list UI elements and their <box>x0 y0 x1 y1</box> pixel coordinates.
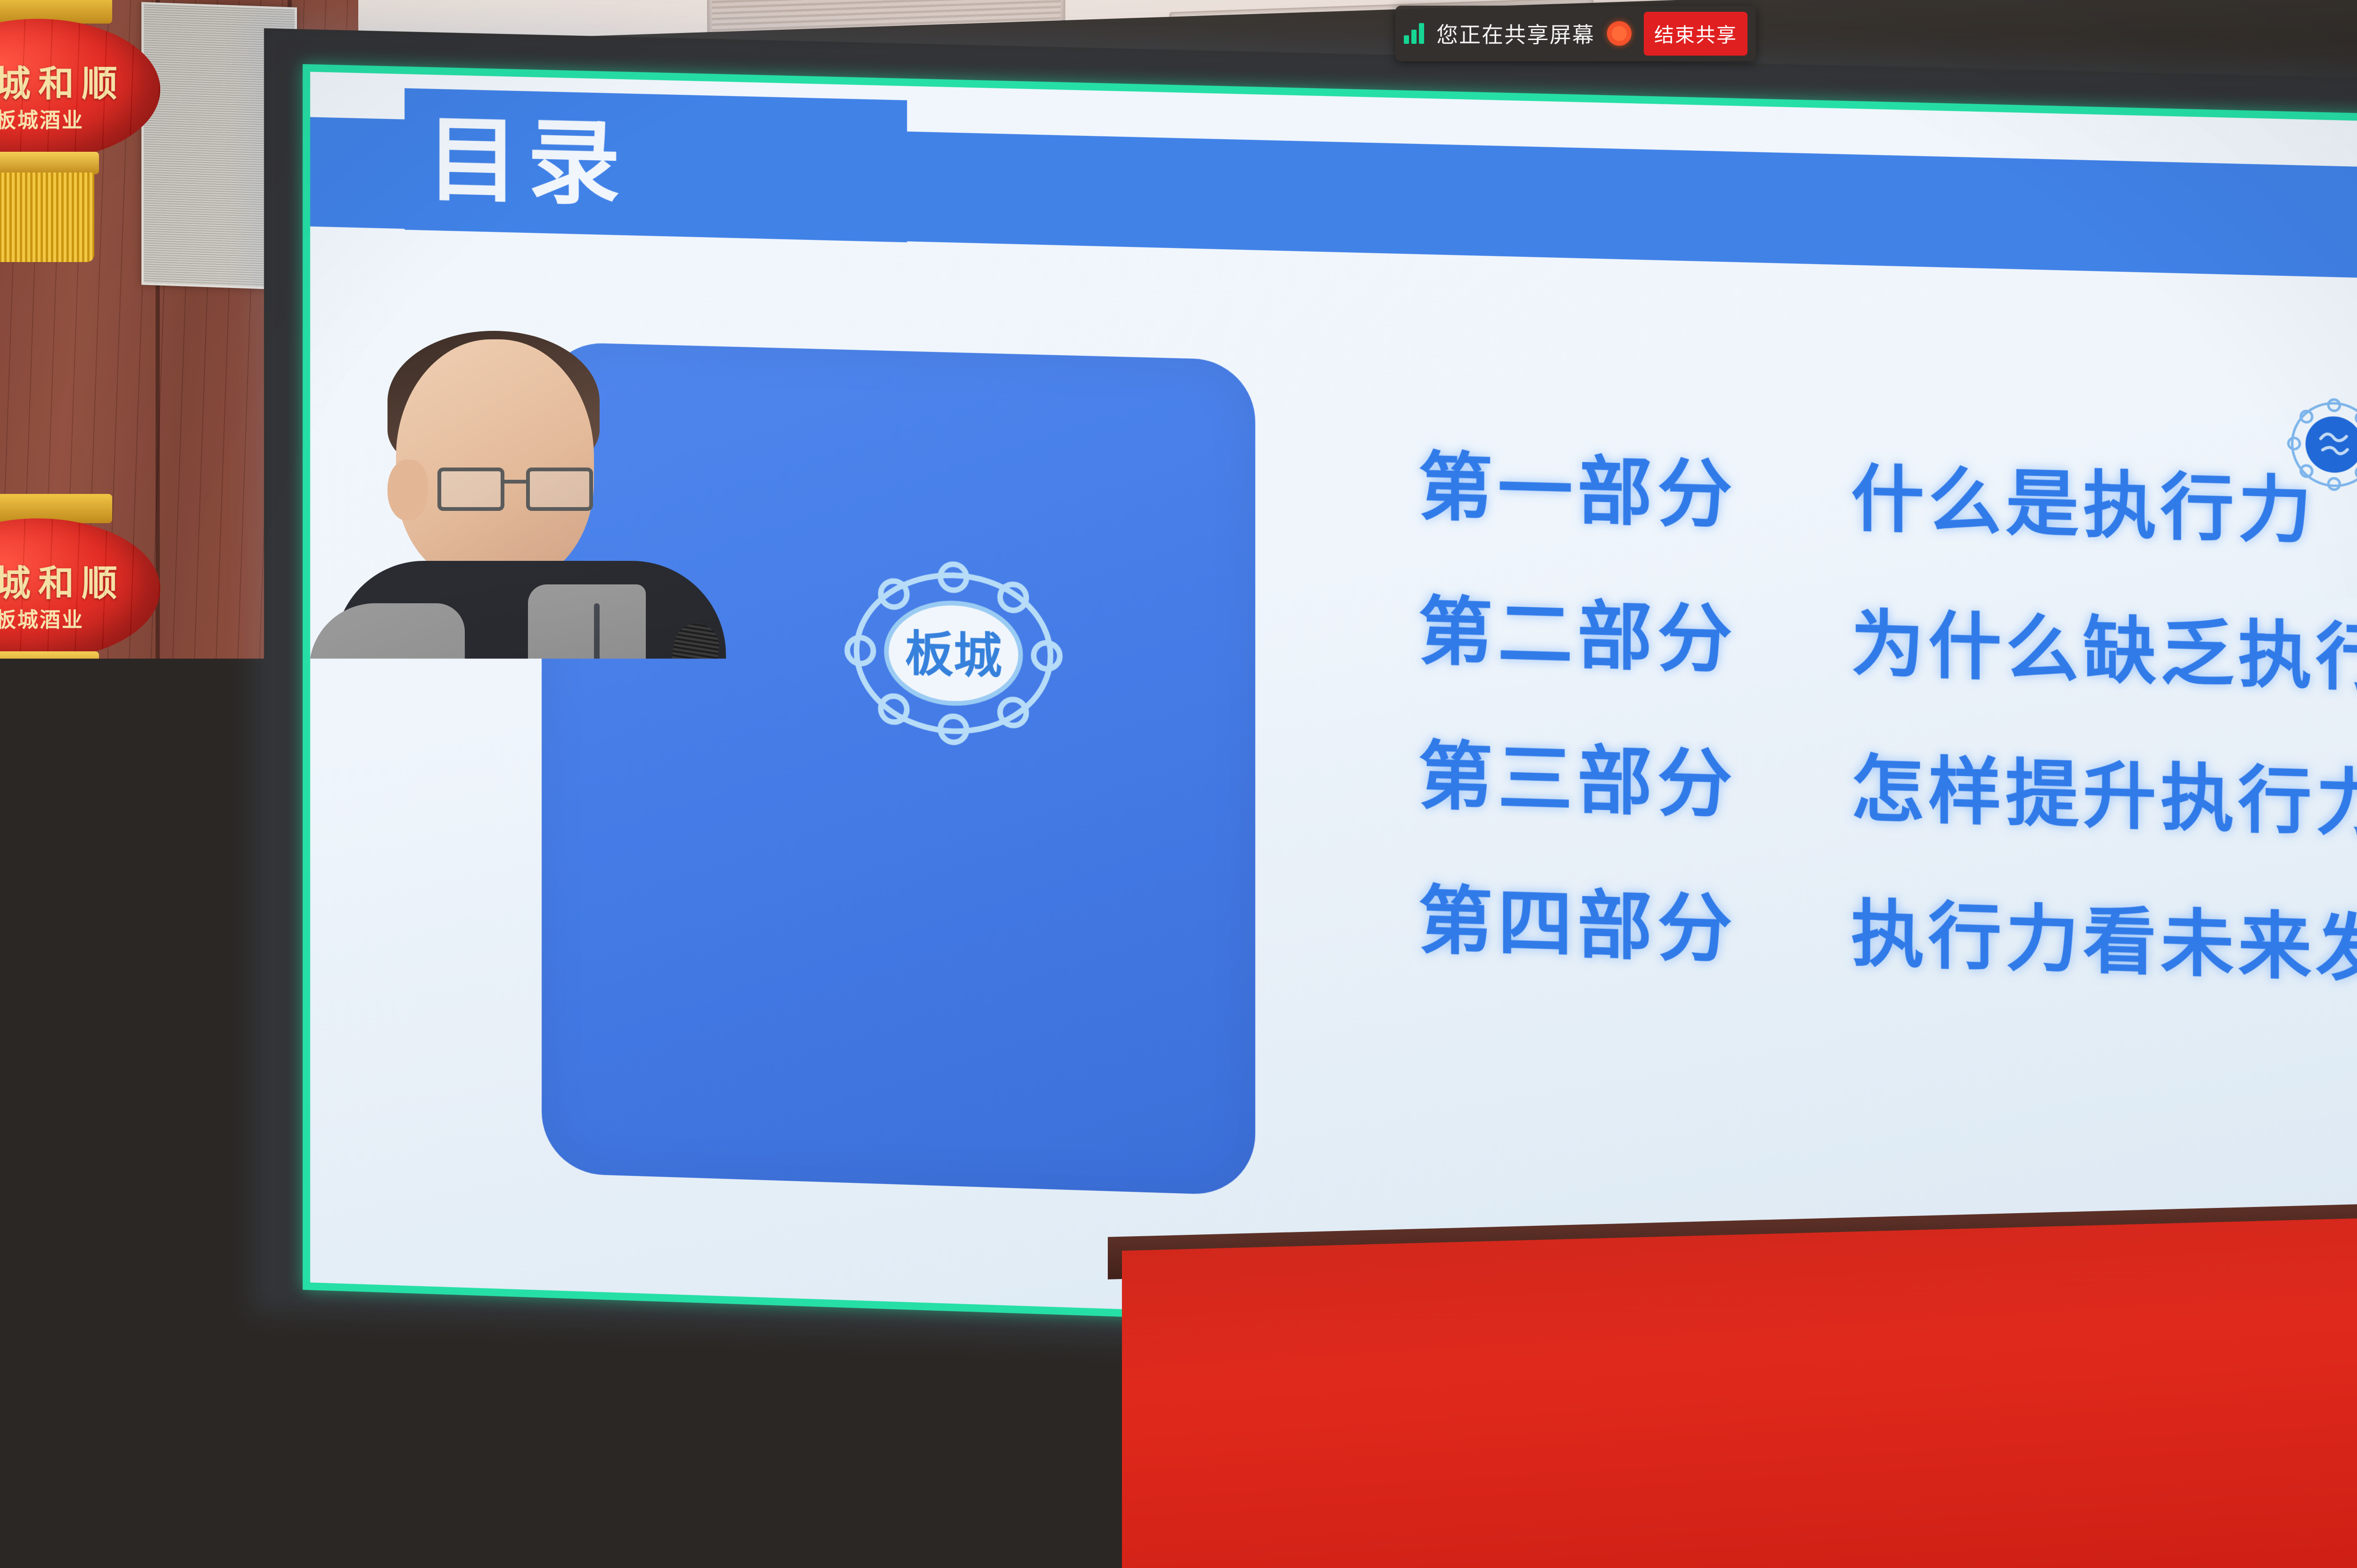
toc-part-label: 第二部分 <box>1418 571 1851 690</box>
toc-item-text: 为什么缺乏执行力 <box>1851 585 2357 707</box>
podium: 板城 板城酒业 BANCHENG LIQUOR <box>236 924 1131 1568</box>
lantern-brand-text: 板城酒业 <box>0 103 84 133</box>
speaker-sweater-chest <box>528 584 646 782</box>
toc-row: 第四部分 执行力看未来发展 <box>1418 860 2357 1004</box>
podium-brand-cn: 板城酒业 <box>530 992 816 1044</box>
toc-item-text: 怎样提升执行力 <box>1851 730 2357 851</box>
slide-title: 目录 <box>426 113 629 211</box>
bancheng-seal-icon: 板城 <box>424 980 514 1079</box>
screenshot-stage: 目录 <box>0 0 2357 1568</box>
toc-part-label: 第三部分 <box>1418 715 1851 836</box>
toc-row: 第一部分 什么是执行力 <box>1418 426 2357 567</box>
toc-part-label: 第一部分 <box>1418 426 1851 545</box>
speaker-ear <box>387 460 428 521</box>
lantern-title: 板城和顺 <box>0 554 149 606</box>
lantern-brand-text: 板城酒业 <box>0 603 84 633</box>
lantern-brand: 板城酒业 <box>0 1031 84 1062</box>
toc-item-text: 执行力看未来发展 <box>1851 875 2357 998</box>
lantern-title: 板城和顺 <box>0 55 149 107</box>
record-dot-icon[interactable] <box>1607 21 1632 46</box>
podium-brand-en: BANCHENG LIQUOR <box>530 1047 816 1068</box>
lantern-brand: 板城酒业 <box>0 103 84 134</box>
toc-row: 第三部分 怎样提升执行力 <box>1418 715 2357 859</box>
lantern-brand: 板城酒业 <box>0 602 84 633</box>
lantern-title: 板城和顺 <box>0 983 149 1035</box>
podium-wordmark: 板城酒业 BANCHENG LIQUOR <box>530 992 816 1068</box>
podium-body <box>354 1122 1014 1568</box>
toc-part-label: 第四部分 <box>1418 860 1851 980</box>
signal-bars-icon <box>1404 23 1424 44</box>
screen-share-toolbar[interactable]: 您正在共享屏幕 结束共享 <box>1395 6 1756 61</box>
speaker-head <box>396 339 594 584</box>
vest-zipper <box>594 603 600 895</box>
podium-side-edge <box>990 1112 1051 1568</box>
hp-laptop: hp <box>698 740 1056 943</box>
red-carpet <box>1122 1210 2357 1568</box>
toc-row: 第二部分 为什么缺乏执行力 <box>1418 571 2357 713</box>
podium-brand-logo: 板城 板城酒业 BANCHENG LIQUOR <box>424 980 816 1079</box>
svg-text:板城: 板城 <box>447 1018 490 1043</box>
panel-emblem-text: 板城 <box>905 626 1002 685</box>
toc-item-text: 什么是执行力 <box>1851 440 2316 558</box>
slide-title-block: 目录 <box>404 88 907 242</box>
lantern-brand-text: 板城酒业 <box>0 1032 84 1062</box>
eyeglasses-icon <box>437 468 593 513</box>
end-share-button[interactable]: 结束共享 <box>1644 12 1747 56</box>
share-status-text: 您正在共享屏幕 <box>1436 18 1595 49</box>
slide-toc-list: 第一部分 什么是执行力 第二部分 为什么缺乏执行力 第三部分 怎样提升执行力 第… <box>1418 426 2357 1042</box>
